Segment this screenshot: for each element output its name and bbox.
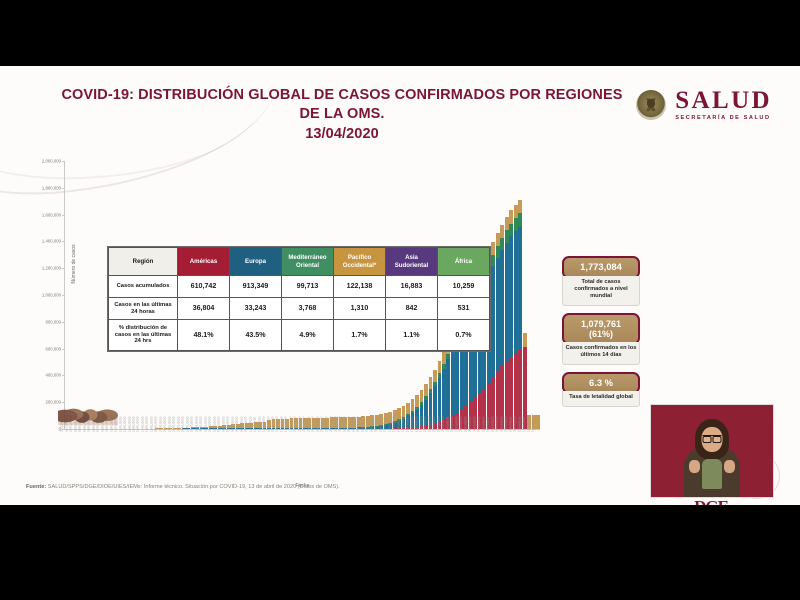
table-header-2: Europa	[230, 248, 282, 276]
table-cell: 913,349	[230, 276, 282, 298]
slide-date: 13/04/2020	[52, 125, 632, 144]
stat-caption: Total de casos confirmados a nivel mundi…	[562, 276, 640, 306]
source-footer: Fuente: SALUD/SPPS/DGE/DIOE/UIES/IEMx: I…	[26, 484, 546, 491]
table-row-label: % distribución de casos en las últimas 2…	[109, 320, 178, 351]
table-row-label: Casos acumulados	[109, 276, 178, 298]
table-header-1: Américas	[178, 248, 230, 276]
dge-logo: DGE Dirección General de Epidemiología	[650, 498, 772, 505]
interpreter-shirt	[702, 459, 722, 489]
letterbox-bottom	[0, 505, 800, 600]
x-axis-tick-labels: 30/12/201931/12/201901/01/202002/01/2020…	[65, 431, 540, 479]
title-line-1: COVID-19: DISTRIBUCIÓN GLOBAL DE CASOS C…	[52, 86, 632, 105]
bar-segment-mediterráneo-oriental	[518, 213, 522, 226]
table-corner-label: Región	[109, 248, 178, 276]
stat-box-2: 1,079,761(61%)Casos confirmados en los ú…	[562, 313, 640, 365]
salud-logo-text: SALUD	[675, 88, 772, 113]
y-axis-tick-label: 1,200,000	[42, 266, 61, 271]
salud-logo-subtitle: SECRETARÍA DE SALUD	[675, 116, 772, 122]
stat-caption: Tasa de letalidad global	[562, 391, 640, 406]
x-axis-tick-label: 13/04/2020	[536, 431, 540, 479]
bar-segment-europa	[518, 227, 522, 349]
table-header-5: Asia Sudoriental	[386, 248, 438, 276]
table-cell: 0.7%	[438, 320, 490, 351]
table-cell: 99,713	[282, 276, 334, 298]
interpreter-left-hand	[689, 460, 700, 473]
table-cell: 1.7%	[334, 320, 386, 351]
table-cell: 43.5%	[230, 320, 282, 351]
letterbox-top	[0, 0, 800, 66]
video-frame: COVID-19: DISTRIBUCIÓN GLOBAL DE CASOS C…	[0, 0, 800, 600]
y-axis-tick-label: 400,000	[45, 373, 61, 378]
table-cell: 33,243	[230, 298, 282, 320]
y-axis-tick-label: 800,000	[45, 319, 61, 324]
table-header: Región AméricasEuropaMediterráneo Orient…	[109, 248, 490, 276]
table-row-label: Casos en las últimas 24 horas	[109, 298, 178, 320]
footer-label: Fuente:	[26, 484, 46, 490]
y-axis-tick-label: 2,000,000	[42, 159, 61, 164]
table-cell: 1.1%	[386, 320, 438, 351]
table-cell: 48.1%	[178, 320, 230, 351]
title-line-2: DE LA OMS.	[52, 105, 632, 124]
bar-segment-pacífico-occidental	[518, 200, 522, 214]
table-cell: 610,742	[178, 276, 230, 298]
stat-box-3: 6.3 %Tasa de letalidad global	[562, 372, 640, 407]
y-axis-tick-label: 1,800,000	[42, 185, 61, 190]
table-row: % distribución de casos en las últimas 2…	[109, 320, 490, 351]
y-axis-tick-label: 1,600,000	[42, 212, 61, 217]
bar-segment-pacífico-occidental	[523, 333, 527, 347]
table-cell: 16,883	[386, 276, 438, 298]
bar-segment-pacífico-occidental	[536, 415, 540, 429]
glasses-icon	[703, 435, 722, 441]
sign-language-interpreter-video	[650, 404, 774, 498]
table-body: Casos acumulados610,742913,34999,713122,…	[109, 276, 490, 351]
table-cell: 10,259	[438, 276, 490, 298]
table-cell: 36,804	[178, 298, 230, 320]
salud-wordmark: SALUD SECRETARÍA DE SALUD	[675, 88, 772, 122]
footer-text: SALUD/SPPS/DGE/DIOE/UIES/IEMx: Informe t…	[48, 484, 340, 490]
y-axis-tick-label: 200,000	[45, 400, 61, 405]
presentation-slide: COVID-19: DISTRIBUCIÓN GLOBAL DE CASOS C…	[0, 66, 800, 505]
table-header-6: África	[438, 248, 490, 276]
table-header-3: Mediterráneo Oriental	[282, 248, 334, 276]
slide-title: COVID-19: DISTRIBUCIÓN GLOBAL DE CASOS C…	[52, 86, 632, 144]
table-row: Casos acumulados610,742913,34999,713122,…	[109, 276, 490, 298]
table-row: Casos en las últimas 24 horas36,80433,24…	[109, 298, 490, 320]
y-axis-tick-label: 1,000,000	[42, 293, 61, 298]
table-cell: 842	[386, 298, 438, 320]
y-axis-tick-label: 1,400,000	[42, 239, 61, 244]
stat-value: 1,079,761(61%)	[562, 313, 640, 345]
dge-logo-text: DGE	[650, 498, 772, 505]
table-header-row: Región AméricasEuropaMediterráneo Orient…	[109, 248, 490, 276]
regions-data-table: Región AméricasEuropaMediterráneo Orient…	[108, 247, 490, 351]
table-cell: 122,138	[334, 276, 386, 298]
table-header-4: Pacífico Occidental*	[334, 248, 386, 276]
mexican-eagle-seal-icon	[636, 90, 666, 120]
table-cell: 4.9%	[282, 320, 334, 351]
table-cell: 531	[438, 298, 490, 320]
chart-bar	[536, 415, 540, 429]
stat-box-1: 1,773,084Total de casos confirmados a ni…	[562, 256, 640, 306]
table-cell: 1,310	[334, 298, 386, 320]
table-cell: 3,768	[282, 298, 334, 320]
stat-caption: Casos confirmados en los últimos 14 días	[562, 342, 640, 365]
y-axis-tick-label: 600,000	[45, 346, 61, 351]
summary-stat-boxes: 1,773,084Total de casos confirmados a ni…	[562, 256, 640, 414]
interpreter-right-hand	[724, 460, 735, 473]
salud-logo: SALUD SECRETARÍA DE SALUD	[636, 88, 772, 122]
